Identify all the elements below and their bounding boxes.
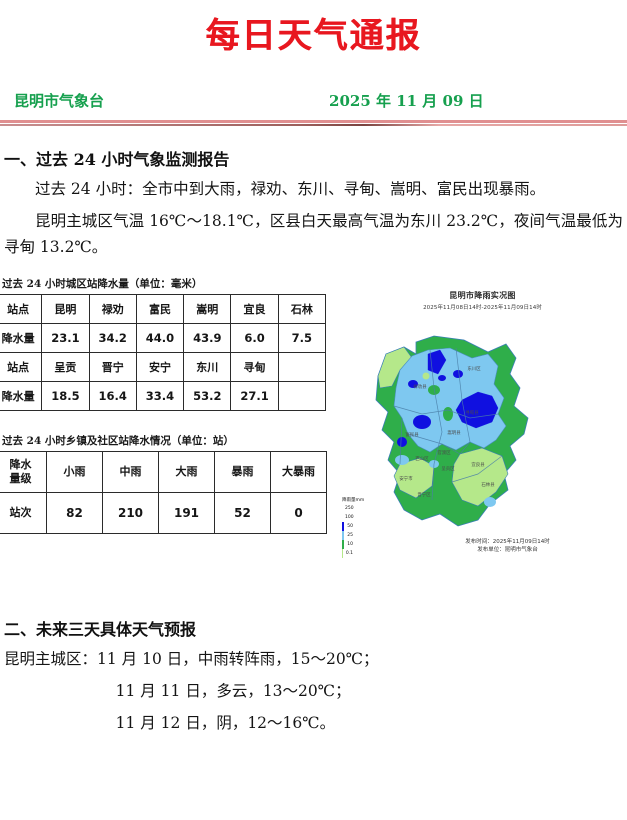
legend-swatch <box>342 540 344 549</box>
map-label-dongchuan: 东川区 <box>467 365 481 372</box>
map-canvas: 降雨量mm 250 100 50 <box>338 314 627 544</box>
row-header-station-count: 站次 <box>0 492 47 533</box>
map-label-shilin: 石林县 <box>481 481 495 488</box>
table-cell-empty <box>278 381 325 410</box>
table-cell: 7.5 <box>278 323 325 352</box>
data-and-map-block: 过去 24 小时城区站降水量（单位：毫米） 站点 昆明 禄劝 富民 嵩明 宜良 … <box>0 276 627 596</box>
table-cell: 44.0 <box>136 323 183 352</box>
map-title: 昆明市降雨实况图 <box>338 290 627 301</box>
map-region-heavy-blob-5 <box>453 370 463 378</box>
legend-label: 25 <box>347 531 353 540</box>
table-row: 降水量 23.1 34.2 44.0 43.9 6.0 7.5 <box>0 323 326 352</box>
township-precip-level-table: 降水 量级 小雨 中雨 大雨 暴雨 大暴雨 站次 82 210 191 <box>0 451 327 534</box>
legend-label: 100 <box>345 513 354 522</box>
table-cell: 大暴雨 <box>271 451 327 492</box>
legend-scale: 250 100 50 25 <box>342 504 353 558</box>
map-label-guandu: 官渡区 <box>437 449 451 456</box>
map-label-xishan: 西山区 <box>415 455 429 462</box>
legend-label: 50 <box>347 522 353 531</box>
table-cell: 33.4 <box>136 381 183 410</box>
table-cell: 43.9 <box>184 323 231 352</box>
table-cell: 34.2 <box>89 323 136 352</box>
issuer-row: 昆明市气象台 2025 年 11 月 09 日 <box>0 90 627 111</box>
section-1-paragraph-2: 昆明主城区气温 16℃～18.1℃，区县白天最高气温为东川 23.2℃，夜间气温… <box>4 208 623 260</box>
legend-item: 0.1 <box>342 549 353 558</box>
table-cell: 小雨 <box>47 451 103 492</box>
map-label-anning: 安宁市 <box>399 475 413 482</box>
map-region-blue-spot-south-1 <box>395 455 409 465</box>
map-region-heavy-blob-4 <box>397 437 407 447</box>
table-row: 降水 量级 小雨 中雨 大雨 暴雨 大暴雨 <box>0 451 327 492</box>
legend-label: 0.1 <box>346 549 353 558</box>
table-2-caption: 过去 24 小时乡镇及社区站降水情况（单位：站） <box>2 433 332 448</box>
map-legend: 降雨量mm 250 100 50 <box>342 497 376 558</box>
page-title: 每日天气通报 <box>0 14 627 58</box>
map-subtitle: 2025年11月08日14时-2025年11月09日14时 <box>338 303 627 311</box>
forecast-day-1: 11 月 10 日，中雨转阵雨，15～20℃； <box>97 650 379 668</box>
table-row: 站点 昆明 禄劝 富民 嵩明 宜良 石林 <box>0 294 326 323</box>
map-region-heavy-blob-3 <box>438 375 446 381</box>
forecast-area-label: 昆明主城区： <box>4 650 97 668</box>
section-1-heading: 一、过去 24 小时气象监测报告 <box>4 146 627 170</box>
table-cell: 6.0 <box>231 323 278 352</box>
table-row: 降水量 18.5 16.4 33.4 53.2 27.1 <box>0 381 326 410</box>
row-header-station: 站点 <box>0 352 42 381</box>
row-header-precip-level: 降水 量级 <box>0 451 47 492</box>
row-header-station: 站点 <box>0 294 42 323</box>
forecast-line-2: 11 月 11 日，多云，13～20℃； <box>4 678 623 704</box>
table-cell: 昆明 <box>42 294 89 323</box>
legend-swatch <box>342 522 344 531</box>
row-header-precip: 降水量 <box>0 323 42 352</box>
table-cell: 安宁 <box>136 352 183 381</box>
table-cell: 82 <box>47 492 103 533</box>
issue-date: 2025 年 11 月 09 日 <box>329 90 484 111</box>
legend-swatch <box>342 549 343 558</box>
forecast-day-3: 11 月 12 日，阴，12～16℃。 <box>116 714 336 732</box>
kunming-rainfall-map-svg: 禄劝县 东川区 寻甸县 富民县 嵩明县 官渡区 西山区 呈贡区 安宁市 晋宁区 … <box>338 314 627 544</box>
legend-label: 10 <box>347 540 353 549</box>
divider-thin-line <box>0 124 627 126</box>
table-cell-empty <box>278 352 325 381</box>
table-row: 站次 82 210 191 52 0 <box>0 492 327 533</box>
map-region-green-patch-3 <box>423 372 430 379</box>
row-header-precip-level-line2: 量级 <box>0 472 45 486</box>
map-region-heavy-blob-1 <box>413 415 431 429</box>
table-cell: 大雨 <box>159 451 215 492</box>
legend-item: 50 <box>342 522 353 531</box>
section-1-paragraph-1: 过去 24 小时：全市中到大雨，禄劝、东川、寻甸、嵩明、富民出现暴雨。 <box>4 176 623 202</box>
map-region-blue-spot-south-2 <box>484 497 496 507</box>
map-region-green-patch-2 <box>443 407 453 421</box>
map-label-fumin: 富民县 <box>405 431 419 438</box>
map-label-xundian: 寻甸县 <box>465 409 479 416</box>
legend-item: 250 <box>342 504 353 513</box>
legend-item: 25 <box>342 531 353 540</box>
table-cell: 石林 <box>278 294 325 323</box>
map-publish-unit: 发布单位：昆明市气象台 <box>388 546 627 554</box>
table-cell: 18.5 <box>42 381 89 410</box>
table-cell: 呈贡 <box>42 352 89 381</box>
table-cell: 富民 <box>136 294 183 323</box>
table-cell: 禄劝 <box>89 294 136 323</box>
table-cell: 嵩明 <box>184 294 231 323</box>
table-1-caption: 过去 24 小时城区站降水量（单位：毫米） <box>2 276 332 291</box>
table-cell: 中雨 <box>103 451 159 492</box>
table-cell: 0 <box>271 492 327 533</box>
table-cell: 53.2 <box>184 381 231 410</box>
table-cell: 52 <box>215 492 271 533</box>
forecast-line-1: 昆明主城区：11 月 10 日，中雨转阵雨，15～20℃； <box>4 646 623 672</box>
map-label-yiliang: 宜良县 <box>471 461 485 468</box>
table-cell: 16.4 <box>89 381 136 410</box>
table-2-wrapper: 过去 24 小时乡镇及社区站降水情况（单位：站） 降水 量级 小雨 中雨 大雨 <box>0 433 332 534</box>
row-header-precip: 降水量 <box>0 381 42 410</box>
table-cell: 寻甸 <box>231 352 278 381</box>
map-label-luquan: 禄劝县 <box>413 383 427 390</box>
legend-item: 100 <box>342 513 353 522</box>
header-divider <box>0 120 627 126</box>
map-label-songming: 嵩明县 <box>447 430 461 436</box>
city-station-precip-table: 站点 昆明 禄劝 富民 嵩明 宜良 石林 降水量 23.1 34.2 44.0 … <box>0 294 326 411</box>
legend-swatch <box>342 531 344 540</box>
table-cell: 23.1 <box>42 323 89 352</box>
table-cell: 宜良 <box>231 294 278 323</box>
forecast-line-3: 11 月 12 日，阴，12～16℃。 <box>4 710 623 736</box>
tables-column: 过去 24 小时城区站降水量（单位：毫米） 站点 昆明 禄劝 富民 嵩明 宜良 … <box>0 276 332 534</box>
row-header-precip-level-line1: 降水 <box>0 458 45 472</box>
table-row: 站点 呈贡 晋宁 安宁 东川 寻甸 <box>0 352 326 381</box>
table-cell: 191 <box>159 492 215 533</box>
table-cell: 东川 <box>184 352 231 381</box>
forecast-day-2: 11 月 11 日，多云，13～20℃； <box>116 682 351 700</box>
table-cell: 27.1 <box>231 381 278 410</box>
map-label-jinning: 晋宁区 <box>417 491 431 498</box>
table-cell: 210 <box>103 492 159 533</box>
rainfall-map-panel: 昆明市降雨实况图 2025年11月08日14时-2025年11月09日14时 降… <box>338 278 627 578</box>
legend-label: 250 <box>345 504 354 513</box>
table-cell: 暴雨 <box>215 451 271 492</box>
legend-item: 10 <box>342 540 353 549</box>
map-region-se-lightgreen <box>452 448 508 506</box>
legend-unit-label: 降雨量mm <box>342 497 376 503</box>
table-cell: 晋宁 <box>89 352 136 381</box>
issuer-name: 昆明市气象台 <box>14 90 104 111</box>
map-label-chenggong: 呈贡区 <box>441 466 455 472</box>
section-2-heading: 二、未来三天具体天气预报 <box>4 616 627 640</box>
